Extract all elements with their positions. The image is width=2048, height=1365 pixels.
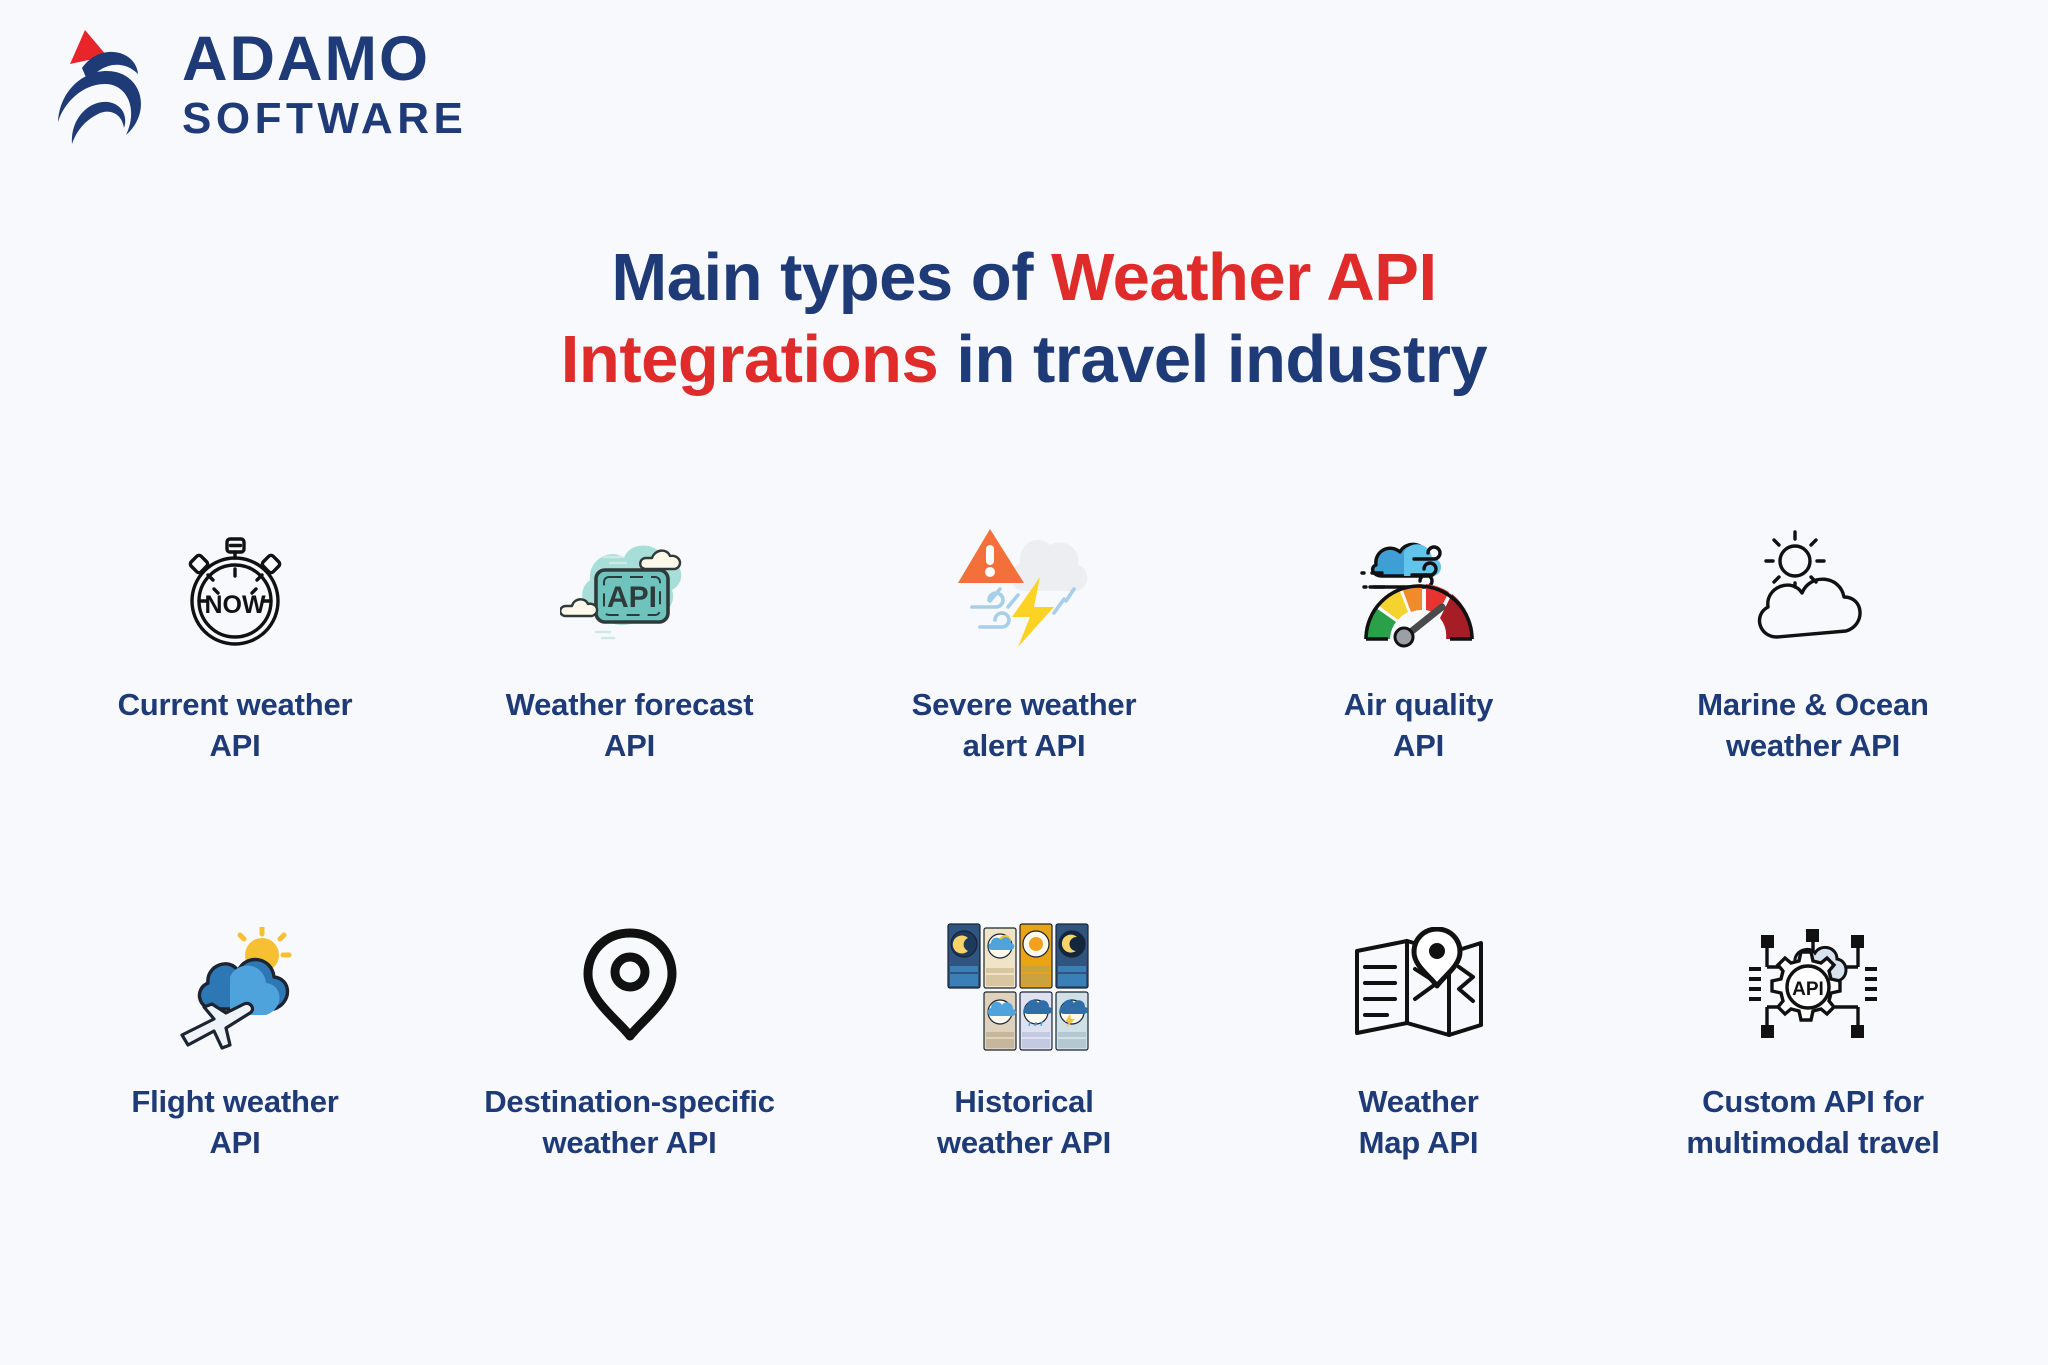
adamo-swoosh-logo-icon [52, 22, 160, 147]
api-type-severe-weather-alert[interactable]: Severe weather alert API [849, 520, 1199, 767]
title-text-accent-2: Integrations [561, 322, 938, 397]
api-type-label: Marine & Ocean weather API [1697, 685, 1929, 767]
api-type-label: Current weather API [118, 685, 353, 767]
icon-container: NOW [170, 520, 300, 655]
api-type-air-quality[interactable]: Air quality API [1244, 520, 1594, 767]
icon-container [944, 917, 1104, 1052]
api-type-current-weather[interactable]: NOW Current weather API [60, 520, 410, 767]
brand-wordmark: ADAMO SOFTWARE [182, 28, 467, 141]
icon-container [575, 917, 685, 1052]
api-types-row: Flight weather API Destination-specific … [60, 917, 1988, 1164]
gear-api-label: API [1792, 979, 1824, 1000]
api-type-destination-specific[interactable]: Destination-specific weather API [455, 917, 805, 1164]
air-quality-gauge-icon [1354, 525, 1484, 655]
api-type-weather-map[interactable]: Weather Map API [1244, 917, 1594, 1164]
page-title-line-1: Main types of Weather API [0, 237, 2048, 319]
icon-container [1354, 520, 1484, 655]
weather-cards-history-icon [944, 922, 1104, 1052]
sun-cloud-outline-icon [1743, 525, 1883, 655]
api-type-label: Weather Map API [1358, 1082, 1478, 1164]
title-text-tail: in travel industry [938, 322, 1487, 397]
api-types-row: NOW Current weather API API [60, 520, 1988, 767]
stopwatch-now-icon: NOW [170, 525, 300, 655]
api-type-label: Flight weather API [131, 1082, 338, 1164]
api-card-clouds-icon: API [560, 530, 700, 655]
api-gear-network-icon: API [1743, 927, 1883, 1052]
api-card-label: API [606, 581, 656, 614]
storm-alert-lightning-icon [954, 515, 1094, 655]
icon-container: API [560, 520, 700, 655]
title-text-accent-1: Weather API [1051, 240, 1436, 315]
title-text-main: Main types of [611, 240, 1051, 315]
api-type-label: Air quality API [1344, 685, 1493, 767]
api-type-weather-forecast[interactable]: API Weather forecast API [455, 520, 805, 767]
icon-container [954, 520, 1094, 655]
map-pin-location-icon [575, 927, 685, 1052]
folded-map-pin-icon [1349, 927, 1489, 1052]
api-type-label: Historical weather API [937, 1082, 1111, 1164]
api-type-marine-ocean-weather[interactable]: Marine & Ocean weather API [1638, 520, 1988, 767]
api-type-label: Weather forecast API [506, 685, 754, 767]
brand-logo: ADAMO SOFTWARE [52, 22, 467, 147]
api-type-custom-multimodal[interactable]: API Custom API for multimodal travel [1638, 917, 1988, 1164]
api-type-flight-weather[interactable]: Flight weather API [60, 917, 410, 1164]
page-title: Main types of Weather API Integrations i… [0, 237, 2048, 400]
api-type-historical-weather[interactable]: Historical weather API [849, 917, 1199, 1164]
brand-name-top: ADAMO [182, 28, 467, 91]
icon-container [170, 917, 300, 1052]
page-title-line-2: Integrations in travel industry [0, 319, 2048, 401]
api-type-label: Destination-specific weather API [484, 1082, 775, 1164]
api-type-label: Severe weather alert API [912, 685, 1137, 767]
api-types-grid: NOW Current weather API API [60, 520, 1988, 1164]
brand-name-bottom: SOFTWARE [182, 97, 467, 141]
stopwatch-now-label: NOW [204, 591, 266, 619]
icon-container [1349, 917, 1489, 1052]
api-type-label: Custom API for multimodal travel [1686, 1082, 1939, 1164]
icon-container [1743, 520, 1883, 655]
icon-container: API [1743, 917, 1883, 1052]
airplane-cloud-sun-icon [170, 927, 300, 1052]
